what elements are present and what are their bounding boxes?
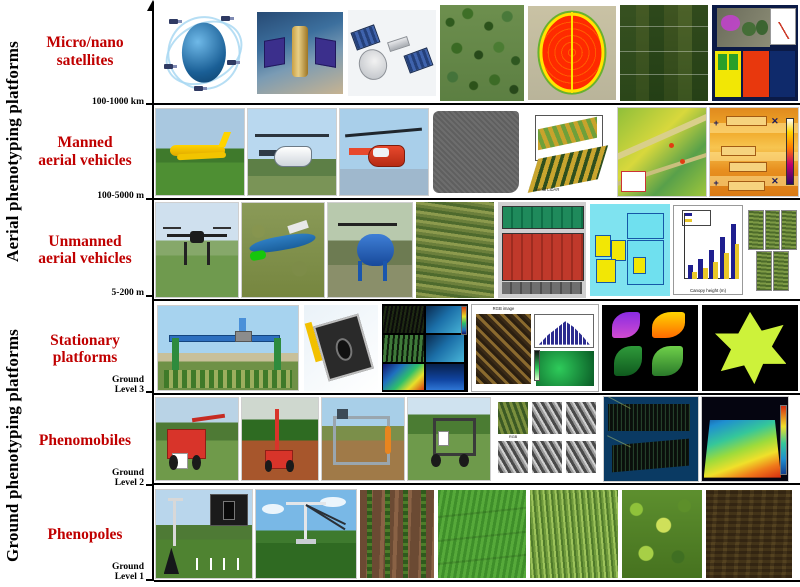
image-cell: Canopy height (m) bbox=[672, 200, 744, 299]
image-satellite-diagram-with-dish bbox=[348, 10, 436, 96]
group-label-aerial: Aerial phenotyping platforms bbox=[0, 0, 26, 303]
image-cell bbox=[154, 200, 240, 299]
image-mixed-vegetation-nadir-image bbox=[622, 490, 702, 578]
row-label-line1: Micro/nano bbox=[46, 34, 123, 51]
image-cell bbox=[710, 2, 800, 103]
image-cell bbox=[338, 105, 430, 198]
image-grayscale-field-orthomosaic bbox=[433, 111, 519, 193]
phenotyping-platforms-figure: Aerial phenotyping platforms Ground phen… bbox=[0, 0, 800, 587]
image-cell bbox=[700, 395, 790, 483]
image-pole-mounted-camera-over-plots bbox=[155, 489, 253, 579]
image-cell: RGB image bbox=[470, 303, 600, 393]
image-earth-with-satellite-constellation bbox=[156, 7, 252, 99]
image-field-gantry-crane-phenotyping-system bbox=[157, 305, 299, 391]
image-aerial-forest-canopy-imagery bbox=[440, 5, 524, 101]
image-ndvi-field-map-with-legend bbox=[617, 107, 707, 197]
bar-chart-xaxis-caption: Canopy height (m) bbox=[674, 288, 742, 293]
row-label-line1: Phenopoles bbox=[48, 526, 123, 543]
image-cell bbox=[154, 2, 254, 103]
image-pushcart-sensor-gantry-with-operator bbox=[321, 397, 405, 481]
axis-tick-1 bbox=[146, 103, 154, 105]
image-cell bbox=[240, 200, 326, 299]
image-cell: + ✕ + ✕ bbox=[708, 105, 800, 198]
group-label-ground: Ground phenotyping platforms bbox=[0, 303, 26, 587]
row-strip-stationary-platforms: RGB image bbox=[154, 303, 800, 395]
chart-legend bbox=[682, 210, 711, 226]
row-strip-manned-aerial-vehicles: Aerial LiDAR + ✕ bbox=[154, 105, 800, 200]
image-multirotor-drone-over-field bbox=[155, 202, 239, 298]
image-chlorophyll-fluorescence-fvfm-analysis: RGB image bbox=[471, 304, 599, 392]
image-cell bbox=[704, 487, 794, 580]
image-cell bbox=[430, 105, 522, 198]
axis-tick-label-6-line2: Level 1 bbox=[66, 573, 144, 583]
image-red-white-helicopter bbox=[339, 108, 429, 196]
image-field-buggy-with-sensor-boom bbox=[407, 397, 491, 481]
axis-tick-label-3: 5-200 m bbox=[66, 289, 144, 299]
image-cell bbox=[620, 487, 704, 580]
image-white-blue-helicopter bbox=[247, 108, 337, 196]
image-cell bbox=[154, 303, 302, 393]
axis-tick-label-5: Ground Level 2 bbox=[66, 469, 144, 489]
axis-tick-label-6: Ground Level 1 bbox=[66, 563, 144, 583]
image-cell bbox=[528, 487, 620, 580]
image-multispectral-band-image-grid: RGB bbox=[494, 397, 600, 481]
row-label-micro-nano-satellites: Micro/nano satellites bbox=[26, 0, 144, 103]
image-cell bbox=[320, 395, 406, 483]
image-segmented-leaf-mask bbox=[702, 305, 798, 391]
row-label-line2: aerial vehicles bbox=[38, 250, 131, 267]
image-cell bbox=[254, 487, 358, 580]
image-senescent-crop-nadir-image bbox=[706, 490, 792, 578]
image-dense-green-canopy-nadir-image bbox=[438, 490, 526, 578]
image-cell bbox=[358, 487, 436, 580]
image-mast-with-cable-suspended-sensor bbox=[255, 489, 357, 579]
axis-tick-6 bbox=[146, 579, 154, 581]
image-canopy-height-plot-map bbox=[590, 204, 670, 296]
image-cell bbox=[744, 200, 800, 299]
image-cell bbox=[406, 395, 492, 483]
row-label-line2: aerial vehicles bbox=[38, 152, 131, 169]
image-fixed-wing-uav-on-grass bbox=[241, 202, 325, 298]
image-center-pivot-ndvi-map bbox=[528, 6, 616, 100]
image-thermal-field-map-with-colorbar: + ✕ + ✕ bbox=[709, 107, 799, 197]
image-cell bbox=[526, 2, 618, 103]
image-cell bbox=[700, 303, 800, 393]
row-label-line2: platforms bbox=[50, 349, 120, 366]
image-cell bbox=[254, 2, 346, 103]
image-three-dimensional-canopy-model-plot: Aerial LiDAR bbox=[524, 108, 614, 196]
image-plant-strip-image-panels bbox=[746, 205, 798, 295]
image-canopy-height-bar-chart: Canopy height (m) bbox=[673, 205, 743, 295]
row-label-line1: Stationary bbox=[50, 332, 120, 349]
image-cell bbox=[240, 395, 320, 483]
image-six-panel-multispectral-image-grid bbox=[382, 304, 468, 392]
image-red-tractor-phenotyping-vehicle bbox=[155, 397, 239, 481]
image-cell bbox=[414, 200, 496, 299]
image-cell bbox=[380, 303, 470, 393]
image-classified-crop-map-with-spectral-plot bbox=[712, 5, 798, 101]
group-label-aerial-text: Aerial phenotyping platforms bbox=[3, 41, 23, 262]
row-label-manned-aerial-vehicles: Manned aerial vehicles bbox=[26, 105, 144, 198]
image-cell bbox=[616, 105, 708, 198]
image-breeding-plot-segmentation-map bbox=[498, 202, 586, 298]
row-label-line1: Manned bbox=[38, 134, 131, 151]
image-cell bbox=[600, 303, 700, 393]
image-cell: RGB bbox=[492, 395, 602, 483]
image-row-crop-nadir-image-soil bbox=[360, 490, 434, 578]
band-grid-caption: RGB bbox=[498, 435, 528, 439]
fvfm-rgb-caption: RGB image bbox=[480, 306, 528, 311]
image-sensor-head-module-closeup bbox=[304, 305, 378, 391]
image-lidar-point-cloud-canopy-strips bbox=[603, 396, 699, 482]
image-cell bbox=[246, 105, 338, 198]
image-cell bbox=[602, 395, 700, 483]
group-label-ground-text: Ground phenotyping platforms bbox=[3, 329, 23, 562]
axis-tick-3 bbox=[146, 295, 154, 297]
image-satellite-over-earth-photo bbox=[257, 12, 343, 94]
row-label-line2: satellites bbox=[46, 52, 123, 69]
row-strip-micro-nano-satellites bbox=[154, 2, 800, 105]
row-strip-phenomobiles: RGB bbox=[154, 395, 800, 485]
image-high-resolution-canopy-rgb-image bbox=[416, 202, 494, 298]
image-cell bbox=[154, 487, 254, 580]
image-agricultural-field-mosaic-satellite bbox=[620, 5, 708, 101]
image-cell bbox=[302, 303, 380, 393]
axis-tick-2 bbox=[146, 198, 154, 200]
image-red-rover-in-maize-field bbox=[241, 397, 319, 481]
row-strip-phenopoles bbox=[154, 487, 800, 582]
image-cell bbox=[154, 105, 246, 198]
image-lidar-height-heatmap-field bbox=[701, 396, 789, 482]
image-cell bbox=[326, 200, 414, 299]
row-label-unmanned-aerial-vehicles: Unmanned aerial vehicles bbox=[26, 200, 144, 300]
row-label-line1: Unmanned bbox=[38, 233, 131, 250]
axis-tick-label-4: Ground Level 3 bbox=[66, 376, 144, 396]
axis-tick-5 bbox=[146, 484, 154, 486]
image-cell bbox=[438, 2, 526, 103]
row-strip-unmanned-aerial-vehicles: Canopy height (m) bbox=[154, 200, 800, 301]
image-wheat-canopy-nadir-image bbox=[530, 490, 618, 578]
image-cell bbox=[436, 487, 528, 580]
row-label-line1: Phenomobiles bbox=[39, 432, 131, 449]
image-cell: Aerial LiDAR bbox=[522, 105, 616, 198]
image-cell bbox=[588, 200, 672, 299]
image-cell bbox=[496, 200, 588, 299]
image-cell bbox=[618, 2, 710, 103]
image-blue-vtol-uav bbox=[327, 202, 413, 298]
image-yellow-crop-duster-airplane bbox=[155, 108, 245, 196]
image-fluorescence-false-color-plants bbox=[602, 305, 698, 391]
axis-tick-4 bbox=[146, 391, 154, 393]
image-cell bbox=[154, 395, 240, 483]
image-cell bbox=[346, 2, 438, 103]
